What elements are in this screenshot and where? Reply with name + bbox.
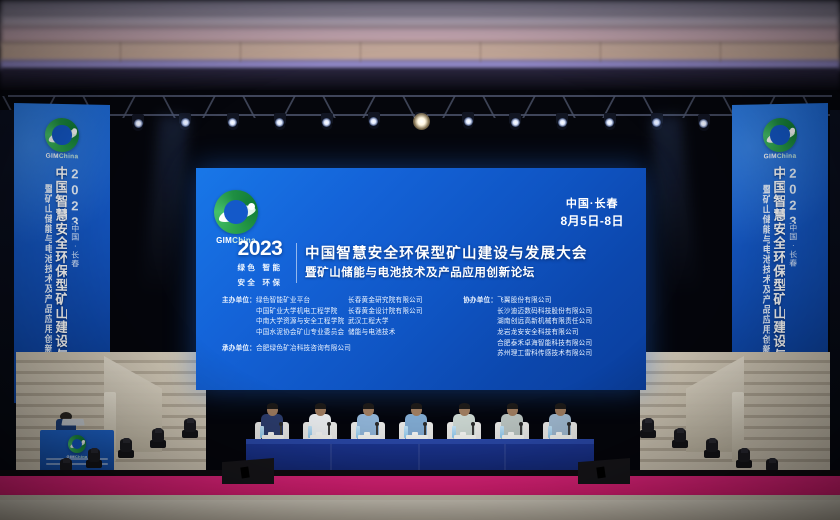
floor-moving-light-7 <box>672 426 688 448</box>
truss-light-7 <box>366 112 382 129</box>
right-banner-logo: GIMChina <box>759 118 801 161</box>
cohost-org-4: 合肥泰禾卓海智能科技有限公司 <box>497 339 592 350</box>
floor-moving-light-8 <box>704 436 720 458</box>
floor-moving-light-5 <box>182 416 198 438</box>
floor-moving-light-6 <box>640 416 656 438</box>
organizer-label: 承办单位： <box>222 344 256 355</box>
stage-monitor-left <box>222 458 274 484</box>
host-org-0: 绿色智能矿业平台 <box>256 296 348 307</box>
host-org-b-2: 武汉工程大学 <box>348 317 423 328</box>
panelist-hair-1 <box>315 403 326 409</box>
main-led-screen: GIMChina 中国·长春 8月5日-8日 2023 绿色 智能 安全 环保 … <box>196 168 646 390</box>
left-banner-year: 2023 <box>68 166 81 224</box>
panelist-hair-2 <box>363 403 374 409</box>
organizer-name: 合肥绿色矿冶科技咨询有限公司 <box>256 344 351 355</box>
left-banner-logo: GIMChina <box>41 118 83 161</box>
right-wall <box>830 110 840 520</box>
host-org-b-1: 长春黄金设计院有限公司 <box>348 307 423 318</box>
truss-light-13 <box>649 113 665 130</box>
cohost-org-3: 龙岩龙安安全科技有限公司 <box>497 328 592 339</box>
event-year: 2023 <box>226 238 294 259</box>
event-slogan-line2: 安全 环保 <box>226 277 294 289</box>
event-title-sub: 暨矿山储能与电池技术及产品应用创新论坛 <box>305 265 626 281</box>
event-year-block: 2023 绿色 智能 安全 环保 <box>226 238 294 288</box>
event-title-main: 中国智慧安全环保型矿山建设与发展大会 <box>305 245 626 265</box>
host-organizations-col2: 长春黄金研究院有限公司长春黄金设计院有限公司武汉工程大学储能与电池技术 <box>348 296 423 360</box>
host-org-1: 中国矿业大学机电工程学院 <box>256 307 348 318</box>
floor-moving-light-9 <box>736 446 752 468</box>
right-banner-logo-main: GIM <box>764 153 777 160</box>
event-date-block: 中国·长春 8月5日-8日 <box>560 196 624 229</box>
event-slogan-line1: 绿色 智能 <box>226 262 294 274</box>
truss-light-6 <box>319 113 335 130</box>
left-banner-logo-main: GIM <box>46 153 59 160</box>
truss-light-11 <box>554 113 570 130</box>
truss-light-14 <box>696 114 712 131</box>
cohost-org-1: 长沙迪迈数码科技股份有限公司 <box>497 307 592 318</box>
host-org-2: 中南大学资源与安全工程学院 <box>256 317 348 328</box>
truss-light-2 <box>130 114 146 131</box>
floor-moving-light-2 <box>86 446 102 468</box>
truss-light-10 <box>507 113 523 130</box>
cohost-label: 协办单位： <box>463 296 497 360</box>
host-org-b-3: 储能与电池技术 <box>348 328 423 339</box>
cohost-organizations: 飞翼股份有限公司长沙迪迈数码科技股份有限公司湖南创远高新机械有限责任公司龙岩龙安… <box>497 296 592 360</box>
podium-laptop <box>61 419 84 426</box>
title-divider <box>296 243 297 283</box>
truss-light-12 <box>602 113 618 130</box>
organizer-block: 承办单位： 合肥绿色矿冶科技咨询有限公司 <box>222 344 351 355</box>
ceiling-bands <box>0 0 840 90</box>
event-location: 中国·长春 <box>560 196 624 213</box>
truss-light-8 <box>413 112 429 129</box>
left-banner-location: 中国·长春 <box>71 224 79 270</box>
host-org-b-0: 长春黄金研究院有限公司 <box>348 296 423 307</box>
panelist-hair-6 <box>555 403 566 409</box>
right-banner-year: 2023 <box>786 166 799 224</box>
truss-light-9 <box>460 112 476 129</box>
truss-light-4 <box>225 113 241 130</box>
host-org-3: 中国水泥协会矿山专业委员会 <box>256 328 348 339</box>
foreground-step <box>0 500 840 520</box>
event-dates: 8月5日-8日 <box>560 213 624 230</box>
cohost-org-0: 飞翼股份有限公司 <box>497 296 592 307</box>
event-title-row: 2023 绿色 智能 安全 环保 中国智慧安全环保型矿山建设与发展大会 暨矿山储… <box>226 238 626 288</box>
right-banner-location: 中国·长春 <box>789 224 797 270</box>
cohost-org-2: 湖南创远高新机械有限责任公司 <box>497 317 592 328</box>
floor-moving-light-3 <box>118 436 134 458</box>
floor-moving-light-4 <box>150 426 166 448</box>
panelist-hair-0 <box>267 403 278 409</box>
cohost-org-5: 苏州理工雷科传感技术有限公司 <box>497 349 592 360</box>
right-banner-logo-sub: China <box>777 153 797 160</box>
left-banner-logo-sub: China <box>59 153 79 160</box>
stage-monitor-right <box>578 458 630 484</box>
conference-stage-photo: GIMChina 2023 中国·长春 中国智慧安全环保型矿山建设与发展大会 暨… <box>0 0 840 520</box>
truss-light-5 <box>272 113 288 130</box>
panelist-hair-3 <box>411 403 422 409</box>
panelist-hair-4 <box>459 403 470 409</box>
panelist-hair-5 <box>507 403 518 409</box>
truss-light-3 <box>177 113 193 130</box>
